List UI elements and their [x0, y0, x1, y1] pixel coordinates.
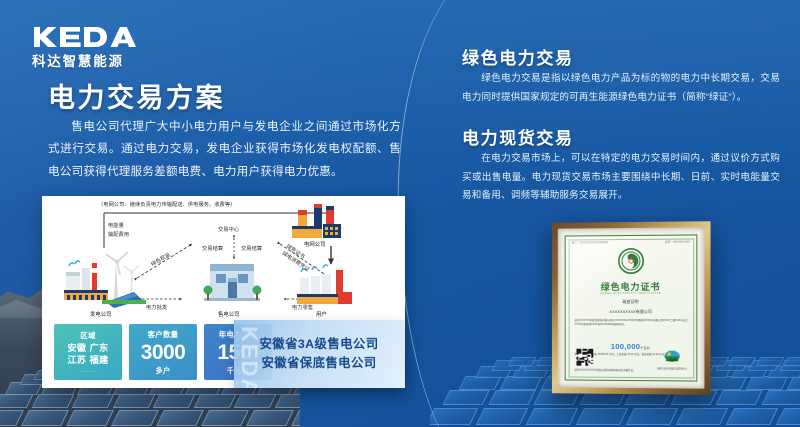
- section-body-green-trading: 绿色电力交易是指以绿色电力产品为标的物的电力中长期交易，交易电力同时提供国家规定…: [462, 70, 780, 107]
- brand-sub-label: 科达智慧能源: [32, 50, 136, 70]
- badge-line-2: 安徽省保底售电公司: [261, 354, 376, 373]
- certificate-mat: 编号：XXXXXXXXXXXXXXXXX 证书：XXX-XXX-XXX 绿色电力…: [558, 227, 705, 388]
- diagram-label-energy-2: 输配费用: [108, 231, 129, 238]
- certificate-issuer: 国家可再生能源信息管理中心: [657, 366, 687, 370]
- certificate-kind: 碳皮证明: [566, 299, 697, 305]
- diagram-label-retail: 电力零售: [292, 304, 313, 311]
- certificate-top-left: 编号：XXXXXXXXXXXXXXXXX: [572, 240, 609, 244]
- section-heading-green-trading: 绿色电力交易: [462, 44, 574, 69]
- stat-customers-unit: 多户: [156, 366, 171, 376]
- diagram-svg: [42, 196, 405, 322]
- keda-logo-icon: [32, 26, 136, 48]
- stat-card-region: 区域 安徽 广东 江苏 福建 ......: [54, 324, 122, 380]
- lead-paragraph: 售电公司代理广大中小电力用户与发电企业之间通过市场化方式进行交易。通过电力交易，…: [48, 116, 401, 183]
- certificate-subtitle: GREEN ELECTRICITY CERTIFICATE: [566, 292, 697, 295]
- diagram-node-user: 用户: [316, 310, 327, 318]
- certificate-amount-value: 100,000: [611, 342, 640, 351]
- section-heading-spot-trading: 电力现货交易: [462, 124, 574, 149]
- diagram-label-wholesale: 电力批发: [146, 304, 167, 311]
- certificate-body: 兹有XXXXXX新能源发电有限公司在XXXXXX年XXXXXX所属XXXXXX有…: [575, 319, 688, 328]
- stat-customers-heading: 客户数量: [148, 329, 179, 340]
- stat-region-dots: ......: [80, 368, 96, 374]
- section-body-spot-trading: 在电力交易市场上，可以在特定的电力交易时间内，通过议价方式购买或出售电量。电力现…: [462, 150, 780, 206]
- icon-solar-panel: [102, 292, 146, 308]
- diagram-label-settle-right: 交易结算: [241, 245, 262, 252]
- diagram-node-retailer: 售电公司: [218, 310, 240, 318]
- certificate-qr-code: [576, 349, 593, 366]
- brand-logo: 科达智慧能源: [32, 26, 136, 70]
- stat-region-line1: 安徽 广东: [67, 343, 108, 355]
- certificate-paper: 编号：XXXXXXXXXXXXXXXXX 证书：XXX-XXX-XXX 绿色电力…: [565, 234, 698, 381]
- diagram-label-energy-1: 电能量: [108, 222, 124, 229]
- badge-line-1: 安徽省3A级售电公司: [260, 335, 379, 354]
- stat-region-line2: 江苏 福建: [67, 355, 108, 367]
- green-seal-icon: [618, 248, 644, 274]
- stat-region-heading: 区域: [80, 330, 95, 341]
- diagram-label-center: 交易中心: [218, 226, 239, 233]
- badge-watermark: KEDA: [236, 326, 262, 388]
- icon-grid-company: [292, 204, 341, 238]
- green-certificate: 编号：XXXXXXXXXXXXXXXXX 证书：XXX-XXX-XXX 绿色电力…: [552, 221, 711, 395]
- certificate-amount-unit: 千瓦时: [640, 346, 650, 350]
- diagram-label-settle-left: 交易结算: [202, 245, 223, 252]
- certificate-company: XXXXXXXXXX有限公司: [566, 309, 697, 315]
- diagram-node-gen: 发电公司: [90, 310, 112, 318]
- slide-root: 科达智慧能源 电力交易方案 售电公司代理广大中小电力用户与发电企业之间通过市场化…: [0, 0, 800, 427]
- certificate-frame: 编号：XXXXXXXXXXXXXXXXX 证书：XXX-XXX-XXX 绿色电力…: [552, 221, 711, 395]
- certificate-top-right: 证书：XXX-XXX-XXX: [665, 240, 690, 244]
- diagram-note: （电网公司：继续负责电力传输配送、供电服务、收费等）: [98, 201, 235, 208]
- icon-power-plant: [64, 258, 108, 300]
- certificate-top-row: 编号：XXXXXXXXXXXXXXXXX 证书：XXX-XXX-XXX: [572, 240, 691, 245]
- transaction-flow-diagram: （电网公司：继续负责电力传输配送、供电服务、收费等） 电能量 输配费用 绿色权益…: [42, 196, 405, 322]
- diagram-node-grid: 电网公司: [304, 240, 326, 248]
- certificate-org-logo-icon: [664, 350, 680, 362]
- qualification-badge: KEDA 安徽省3A级售电公司 安徽省保底售电公司: [234, 320, 404, 388]
- stat-card-customers: 客户数量 3000 多户: [129, 324, 197, 380]
- page-title: 电力交易方案: [48, 76, 225, 115]
- stat-customers-value: 3000: [141, 342, 186, 363]
- icon-retailer-building: [204, 264, 262, 301]
